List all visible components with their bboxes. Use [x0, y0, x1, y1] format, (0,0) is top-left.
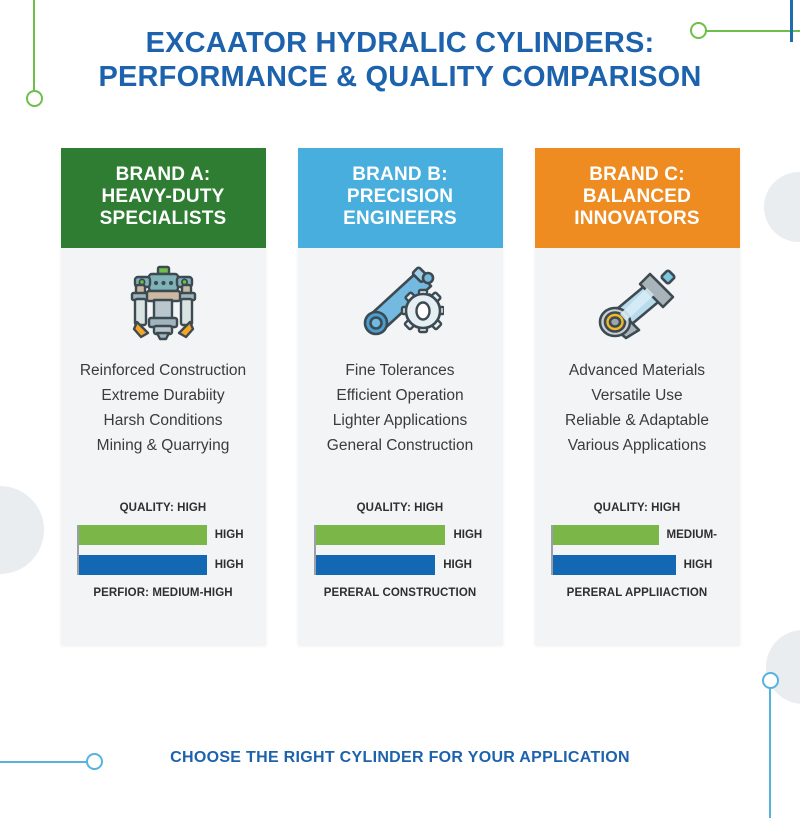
card-title-line1: BRAND A: — [69, 164, 258, 186]
metric-bar-row: HIGH — [79, 525, 250, 545]
card-title-line1: BRAND C: — [543, 164, 732, 186]
metric-bars: HIGH HIGH — [77, 525, 250, 575]
card-icon-brand-c — [591, 248, 683, 358]
card-brand-b[interactable]: BRAND B: PRECISION ENGINEERS — [298, 148, 503, 645]
feature-item: Efficient Operation — [327, 383, 473, 408]
metric-bar-green — [79, 525, 207, 545]
card-features-brand-b: Fine Tolerances Efficient Operation Ligh… — [321, 358, 479, 458]
card-metrics-brand-c: QUALITY: HIGH MEDIUM- HIGH PERERAL APPLI… — [535, 502, 740, 645]
metric-bar-blue — [79, 555, 207, 575]
feature-item: General Construction — [327, 433, 473, 458]
card-brand-a[interactable]: BRAND A: HEAVY-DUTY SPECIALISTS — [61, 148, 266, 645]
footer-cta: CHOOSE THE RIGHT CYLINDER FOR YOUR APPLI… — [0, 749, 800, 767]
hydraulic-press-icon — [121, 263, 205, 343]
page-title: EXCAATOR HYDRALIC CYLINDERS: PERFORMANCE… — [0, 26, 800, 94]
cylinder-ring-icon — [591, 264, 683, 342]
card-title-line3: INNOVATORS — [543, 208, 732, 230]
feature-item: Mining & Quarrying — [80, 433, 246, 458]
card-title-line2: BALANCED — [543, 186, 732, 208]
metric-bar-row: HIGH — [553, 555, 724, 575]
feature-item: Harsh Conditions — [80, 408, 246, 433]
metric-bar-blue-label: HIGH — [443, 559, 472, 571]
card-header-brand-a: BRAND A: HEAVY-DUTY SPECIALISTS — [61, 148, 266, 248]
metric-performance-label: PERFIOR: MEDIUM-HIGH — [93, 587, 232, 599]
feature-item: Advanced Materials — [565, 358, 709, 383]
card-header-brand-c: BRAND C: BALANCED INNOVATORS — [535, 148, 740, 248]
card-title-line2: HEAVY-DUTY — [69, 186, 258, 208]
page-title-line2: PERFORMANCE & QUALITY COMPARISON — [0, 60, 800, 94]
metric-performance-label: PERERAL CONSTRUCTION — [324, 587, 477, 599]
card-title-line3: ENGINEERS — [306, 208, 495, 230]
feature-item: Reinforced Construction — [80, 358, 246, 383]
card-title-line2: PRECISION — [306, 186, 495, 208]
metric-bar-row: HIGH — [316, 555, 487, 575]
card-header-brand-b: BRAND B: PRECISION ENGINEERS — [298, 148, 503, 248]
metric-bar-green-label: HIGH — [453, 529, 482, 541]
card-icon-brand-a — [121, 248, 205, 358]
metric-quality-label: QUALITY: HIGH — [594, 502, 681, 514]
decor-ring-bottom-right — [762, 672, 779, 689]
metric-bar-blue — [553, 555, 676, 575]
metric-bar-green-label: MEDIUM- — [667, 529, 717, 541]
feature-item: Extreme Durabiity — [80, 383, 246, 408]
metric-bar-green — [553, 525, 659, 545]
metric-bar-green — [316, 525, 446, 545]
cylinder-gear-icon — [356, 264, 444, 342]
metric-quality-label: QUALITY: HIGH — [357, 502, 444, 514]
card-metrics-brand-a: QUALITY: HIGH HIGH HIGH PERFIOR: MEDIUM-… — [61, 502, 266, 645]
feature-item: Various Applications — [565, 433, 709, 458]
metric-bar-row: HIGH — [79, 555, 250, 575]
card-icon-brand-b — [356, 248, 444, 358]
card-features-brand-a: Reinforced Construction Extreme Durabiit… — [74, 358, 252, 458]
card-features-brand-c: Advanced Materials Versatile Use Reliabl… — [559, 358, 715, 458]
metric-bar-row: HIGH — [316, 525, 487, 545]
card-title-line1: BRAND B: — [306, 164, 495, 186]
feature-item: Reliable & Adaptable — [565, 408, 709, 433]
metric-bar-blue — [316, 555, 436, 575]
metric-bars: HIGH HIGH — [314, 525, 487, 575]
feature-item: Versatile Use — [565, 383, 709, 408]
card-title-line3: SPECIALISTS — [69, 208, 258, 230]
comparison-cards: BRAND A: HEAVY-DUTY SPECIALISTS — [0, 148, 800, 645]
card-brand-c[interactable]: BRAND C: BALANCED INNOVATORS Advanced Ma… — [535, 148, 740, 645]
metric-quality-label: QUALITY: HIGH — [120, 502, 207, 514]
feature-item: Lighter Applications — [327, 408, 473, 433]
card-metrics-brand-b: QUALITY: HIGH HIGH HIGH PERERAL CONSTRUC… — [298, 502, 503, 645]
feature-item: Fine Tolerances — [327, 358, 473, 383]
metric-bar-blue-label: HIGH — [684, 559, 713, 571]
metric-bar-blue-label: HIGH — [215, 559, 244, 571]
metric-bar-row: MEDIUM- — [553, 525, 724, 545]
metric-performance-label: PERERAL APPLIIACTION — [567, 587, 708, 599]
metric-bar-green-label: HIGH — [215, 529, 244, 541]
page-title-line1: EXCAATOR HYDRALIC CYLINDERS: — [0, 26, 800, 60]
metric-bars: MEDIUM- HIGH — [551, 525, 724, 575]
